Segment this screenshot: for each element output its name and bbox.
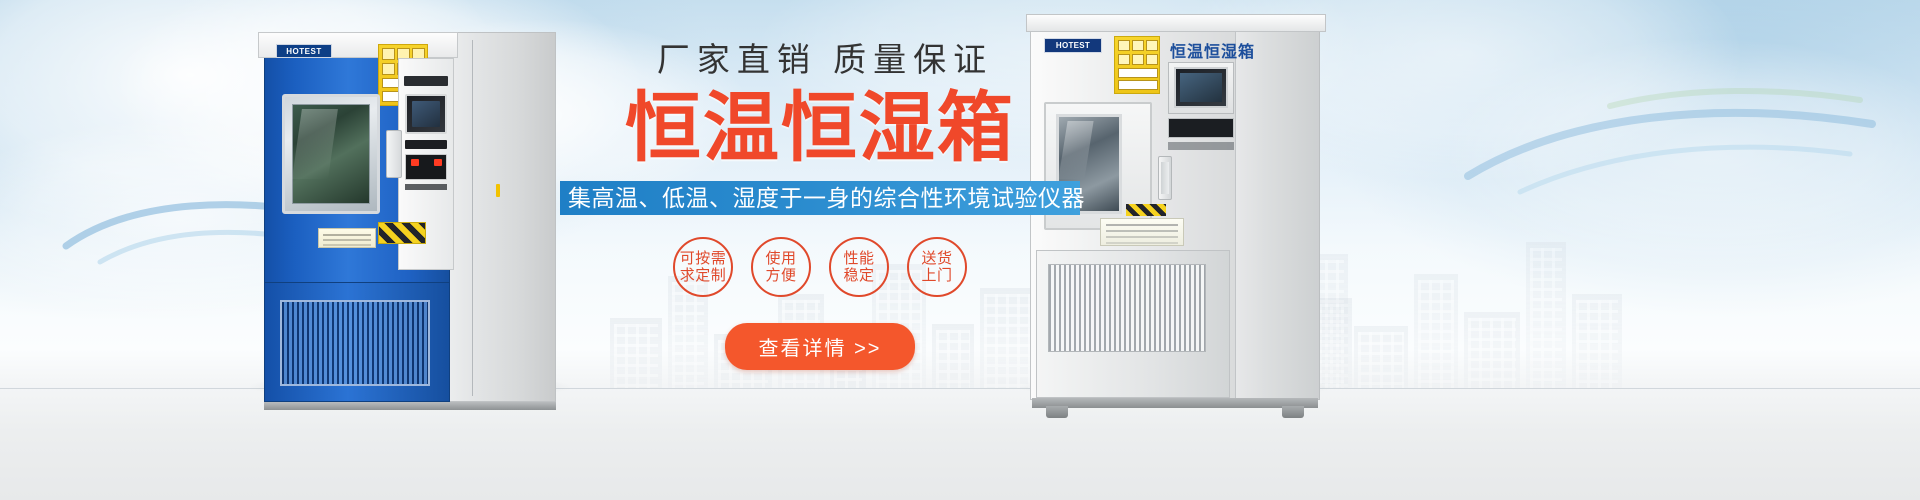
right-chamber-product-title: 恒温恒湿箱 (1170, 38, 1255, 62)
left-chamber-base (264, 402, 556, 410)
left-chamber-door-handle (386, 130, 402, 178)
left-chamber-keypad (405, 140, 447, 149)
left-chamber-led-indicator (411, 159, 419, 166)
left-chamber-led-indicator (434, 159, 442, 166)
left-chamber-indicator-panel (405, 154, 447, 180)
product-promo-banner: HOTEST HOTEST 恒温恒湿箱 (0, 0, 1920, 500)
left-chamber-vent-grille (280, 300, 430, 386)
left-chamber-panel-title-plate (404, 76, 448, 86)
feature-badge-easy-to-use[interactable]: 使用 方便 (751, 237, 811, 297)
product-image-left: HOTEST (258, 32, 558, 402)
badge-line-2: 稳定 (843, 267, 874, 284)
badge-line-1: 使用 (765, 250, 796, 267)
left-chamber-brand-plate: HOTEST (276, 44, 332, 58)
left-chamber-spec-label (318, 228, 376, 248)
cloud-shape (1450, 40, 1920, 270)
banner-headline: 恒温恒湿箱 (560, 86, 1080, 171)
banner-eyebrow-text: 厂家直销 质量保证 (570, 42, 1080, 78)
right-chamber-hazard-stripe (1126, 204, 1166, 216)
left-chamber-viewing-window (292, 104, 370, 204)
right-chamber-base (1032, 398, 1318, 408)
left-chamber-side-panel (436, 32, 556, 402)
decorative-swoosh-right (1460, 80, 1880, 200)
right-chamber-company-text (1168, 142, 1234, 150)
banner-copy-block: 厂家直销 质量保证 恒温恒湿箱 集高温、低温、湿度于一身的综合性环境试验仪器 可… (560, 42, 1080, 370)
right-chamber-display-screen (1174, 67, 1228, 108)
banner-subtitle-bar: 集高温、低温、湿度于一身的综合性环境试验仪器 (560, 181, 1080, 215)
badge-line-2: 方便 (765, 267, 796, 284)
right-chamber-side-panel (1230, 28, 1320, 400)
view-details-button[interactable]: 查看详情 >> (725, 323, 916, 370)
right-chamber-foot (1046, 406, 1068, 418)
feature-badge-stable-performance[interactable]: 性能 稳定 (829, 237, 889, 297)
feature-badge-list: 可按需 求定制 使用 方便 性能 稳定 送货 上门 (560, 237, 1080, 297)
right-chamber-top-cap (1026, 14, 1326, 32)
feature-badge-delivery[interactable]: 送货 上门 (907, 237, 967, 297)
left-chamber-door (282, 94, 380, 214)
badge-line-2: 上门 (921, 267, 952, 284)
right-chamber-warning-sticker (1114, 36, 1160, 94)
badge-line-1: 性能 (843, 250, 874, 267)
left-chamber-company-text (405, 184, 447, 190)
right-chamber-spec-label (1100, 218, 1184, 246)
left-chamber-display-screen (405, 94, 447, 134)
left-chamber-side-marker (496, 184, 500, 197)
sky-glow-right (1280, 0, 1920, 320)
right-chamber-foot (1282, 406, 1304, 418)
feature-badge-customizable[interactable]: 可按需 求定制 (673, 237, 733, 297)
badge-line-1: 可按需 (680, 250, 727, 267)
badge-line-2: 求定制 (680, 267, 727, 284)
left-chamber-hazard-stripe (378, 222, 426, 244)
right-chamber-indicator-panel (1168, 118, 1234, 138)
right-chamber-door-handle-grip (1161, 162, 1169, 194)
left-chamber-side-seam (472, 40, 473, 396)
badge-line-1: 送货 (921, 250, 952, 267)
